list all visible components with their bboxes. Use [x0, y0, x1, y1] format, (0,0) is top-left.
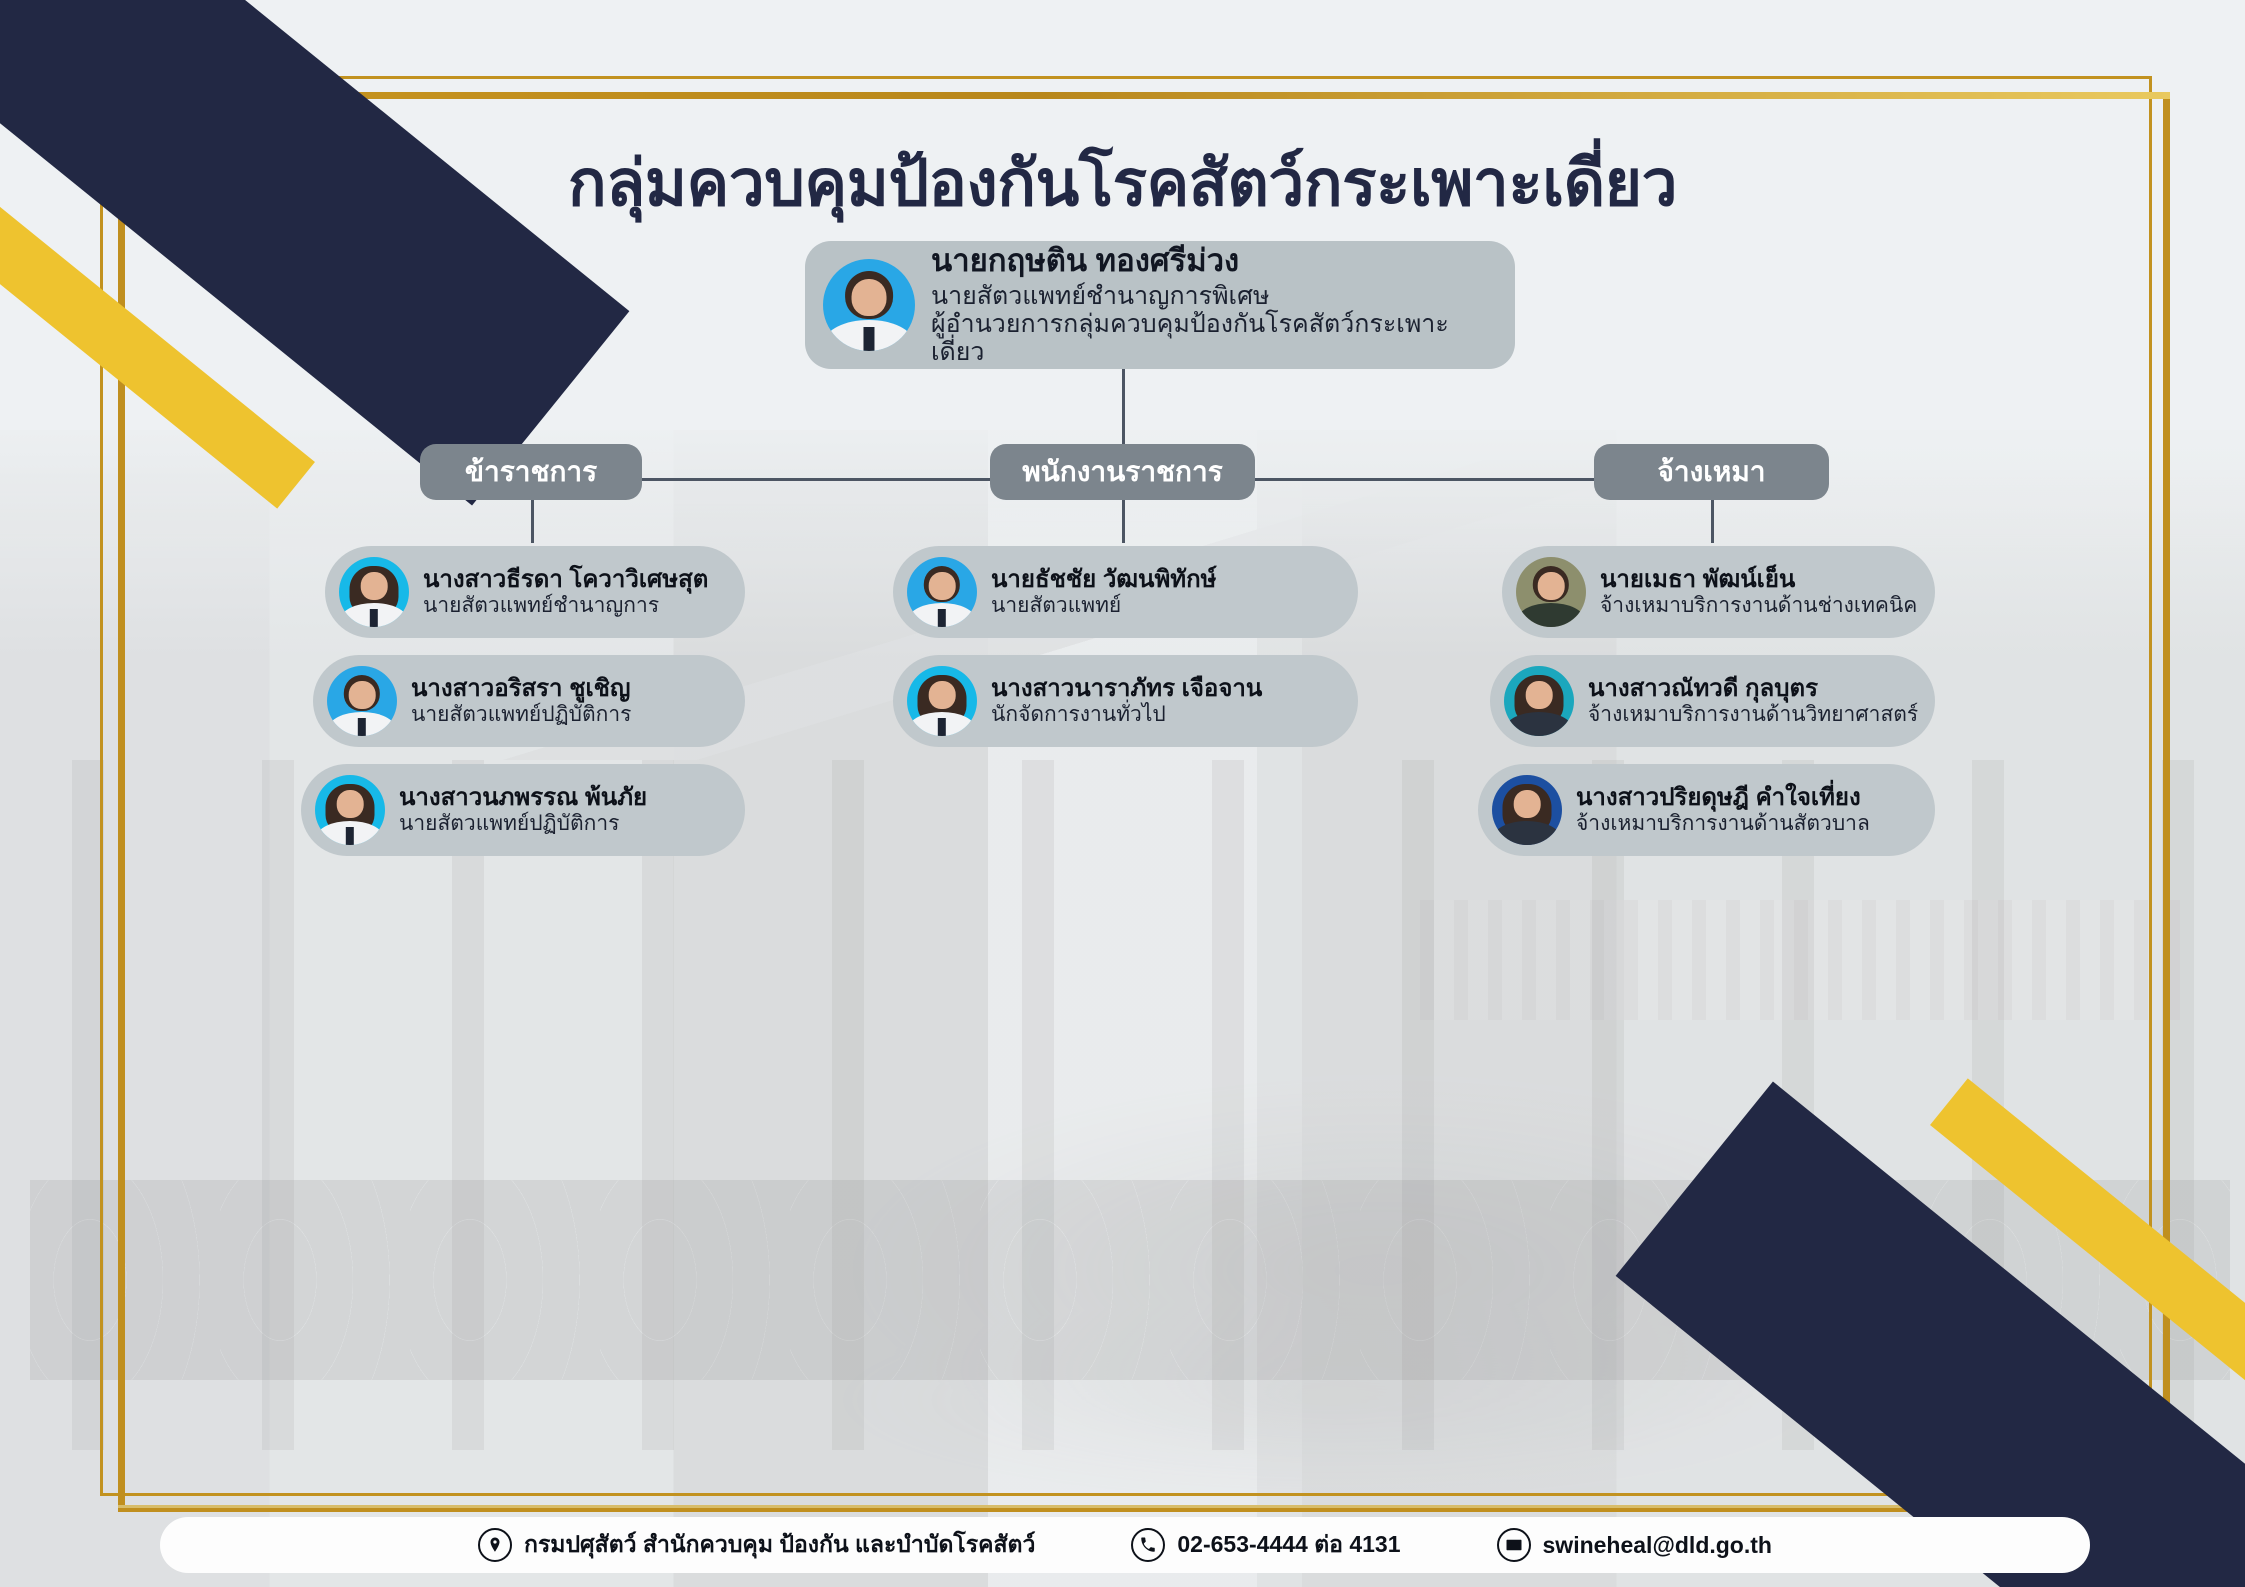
member-role: นายสัตวแพทย์ปฏิบัติการ — [411, 703, 631, 727]
category-pill-civil-servant[interactable]: ข้าราชการ — [420, 444, 642, 500]
member-card[interactable]: นางสาวณัทวดี กุลบุตร จ้างเหมาบริการงานด้… — [1490, 655, 1935, 747]
director-position: ผู้อำนวยการกลุ่มควบคุมป้องกันโรคสัตว์กระ… — [931, 310, 1499, 366]
member-text: นายเมธา พัฒน์เย็น จ้างเหมาบริการงานด้านช… — [1600, 566, 1935, 618]
member-name: นางสาวณัทวดี กุลบุตร — [1588, 675, 1918, 702]
location-pin-icon — [478, 1528, 512, 1562]
page-title: กลุ่มควบคุมป้องกันโรคสัตว์กระเพาะเดี่ยว — [0, 132, 2245, 234]
member-card[interactable]: นายเมธา พัฒน์เย็น จ้างเหมาบริการงานด้านช… — [1502, 546, 1935, 638]
member-name: นางสาวธีรดา โควาวิเศษสุต — [423, 566, 708, 593]
member-avatar — [315, 775, 385, 845]
member-avatar — [907, 557, 977, 627]
member-role: นายสัตวแพทย์ปฏิบัติการ — [399, 812, 647, 836]
member-card[interactable]: นายธัชชัย วัฒนพิทักษ์ นายสัตวแพทย์ — [893, 546, 1358, 638]
member-name: นางสาวนาราภัทร เจือจาน — [991, 675, 1262, 702]
avatar-face — [929, 572, 956, 600]
member-avatar — [339, 557, 409, 627]
member-card[interactable]: นางสาวนาราภัทร เจือจาน นักจัดการงานทั่วไ… — [893, 655, 1358, 747]
member-role: จ้างเหมาบริการงานด้านสัตวบาล — [1576, 812, 1870, 836]
director-name: นายกฤษติน ทองศรีม่วง — [931, 244, 1499, 279]
member-avatar — [1516, 557, 1586, 627]
member-avatar — [1504, 666, 1574, 736]
envelope-icon — [1497, 1528, 1531, 1562]
footer-email-text: swineheal@dld.go.th — [1543, 1532, 1772, 1559]
member-text: นางสาวณัทวดี กุลบุตร จ้างเหมาบริการงานด้… — [1588, 675, 1936, 727]
avatar-tie — [938, 718, 946, 736]
avatar-face — [337, 790, 364, 818]
avatar-tie — [346, 827, 354, 845]
member-name: นางสาวปริยดุษฎี คำใจเที่ยง — [1576, 784, 1870, 811]
member-text: นางสาวนาราภัทร เจือจาน นักจัดการงานทั่วไ… — [991, 675, 1280, 727]
director-avatar — [823, 259, 915, 351]
member-name: นางสาวอริสรา ชูเชิญ — [411, 675, 631, 702]
footer-phone-item: 02-653-4444 ต่อ 4131 — [1131, 1527, 1400, 1563]
director-text: นายกฤษติน ทองศรีม่วง นายสัตวแพทย์ชำนาญกา… — [931, 244, 1499, 366]
avatar-tie — [370, 609, 378, 627]
avatar-face — [929, 681, 956, 709]
member-text: นางสาวนภพรรณ พ้นภัย นายสัตวแพทย์ปฏิบัติก… — [399, 784, 665, 836]
avatar-face — [1514, 790, 1541, 818]
member-role: นักจัดการงานทั่วไป — [991, 703, 1262, 727]
member-avatar — [1492, 775, 1562, 845]
avatar-face — [361, 572, 388, 600]
avatar-face — [852, 279, 887, 316]
member-card[interactable]: นางสาวปริยดุษฎี คำใจเที่ยง จ้างเหมาบริกา… — [1478, 764, 1935, 856]
footer-address-text: กรมปศุสัตว์ สำนักควบคุม ป้องกัน และบำบัด… — [524, 1527, 1035, 1563]
avatar-tie — [863, 327, 874, 351]
member-name: นายธัชชัย วัฒนพิทักษ์ — [991, 566, 1216, 593]
phone-icon — [1131, 1528, 1165, 1562]
avatar-tie — [938, 609, 946, 627]
member-text: นางสาวอริสรา ชูเชิญ นายสัตวแพทย์ปฏิบัติก… — [411, 675, 649, 727]
avatar-face — [349, 681, 376, 709]
member-text: นางสาวปริยดุษฎี คำใจเที่ยง จ้างเหมาบริกา… — [1576, 784, 1888, 836]
member-name: นายเมธา พัฒน์เย็น — [1600, 566, 1917, 593]
director-role: นายสัตวแพทย์ชำนาญการพิเศษ — [931, 282, 1499, 310]
category-pill-government-employee[interactable]: พนักงานราชการ — [990, 444, 1255, 500]
member-avatar — [327, 666, 397, 736]
category-pill-contractor[interactable]: จ้างเหมา — [1594, 444, 1829, 500]
member-card[interactable]: นางสาวนภพรรณ พ้นภัย นายสัตวแพทย์ปฏิบัติก… — [301, 764, 745, 856]
member-text: นายธัชชัย วัฒนพิทักษ์ นายสัตวแพทย์ — [991, 566, 1234, 618]
frame-top-gold-accent — [118, 92, 2170, 99]
member-card[interactable]: นางสาวอริสรา ชูเชิญ นายสัตวแพทย์ปฏิบัติก… — [313, 655, 745, 747]
org-chart-poster: กลุ่มควบคุมป้องกันโรคสัตว์กระเพาะเดี่ยว … — [0, 0, 2245, 1587]
member-card[interactable]: นางสาวธีรดา โควาวิเศษสุต นายสัตวแพทย์ชำน… — [325, 546, 745, 638]
member-avatar — [907, 666, 977, 736]
member-role: นายสัตวแพทย์ชำนาญการ — [423, 594, 708, 618]
footer-gold-divider — [118, 1505, 2170, 1508]
member-name: นางสาวนภพรรณ พ้นภัย — [399, 784, 647, 811]
avatar-tie — [358, 718, 366, 736]
member-role: จ้างเหมาบริการงานด้านช่างเทคนิค — [1600, 594, 1917, 618]
avatar-face — [1526, 681, 1553, 709]
footer-phone-text: 02-653-4444 ต่อ 4131 — [1177, 1527, 1400, 1563]
footer-bar: กรมปศุสัตว์ สำนักควบคุม ป้องกัน และบำบัด… — [160, 1517, 2090, 1573]
footer-address-item: กรมปศุสัตว์ สำนักควบคุม ป้องกัน และบำบัด… — [478, 1527, 1035, 1563]
avatar-face — [1538, 572, 1565, 600]
member-role: จ้างเหมาบริการงานด้านวิทยาศาสตร์ — [1588, 703, 1918, 727]
member-role: นายสัตวแพทย์ — [991, 594, 1216, 618]
footer-email-item: swineheal@dld.go.th — [1497, 1528, 1772, 1562]
member-text: นางสาวธีรดา โควาวิเศษสุต นายสัตวแพทย์ชำน… — [423, 566, 726, 618]
director-card[interactable]: นายกฤษติน ทองศรีม่วง นายสัตวแพทย์ชำนาญกา… — [805, 241, 1515, 369]
